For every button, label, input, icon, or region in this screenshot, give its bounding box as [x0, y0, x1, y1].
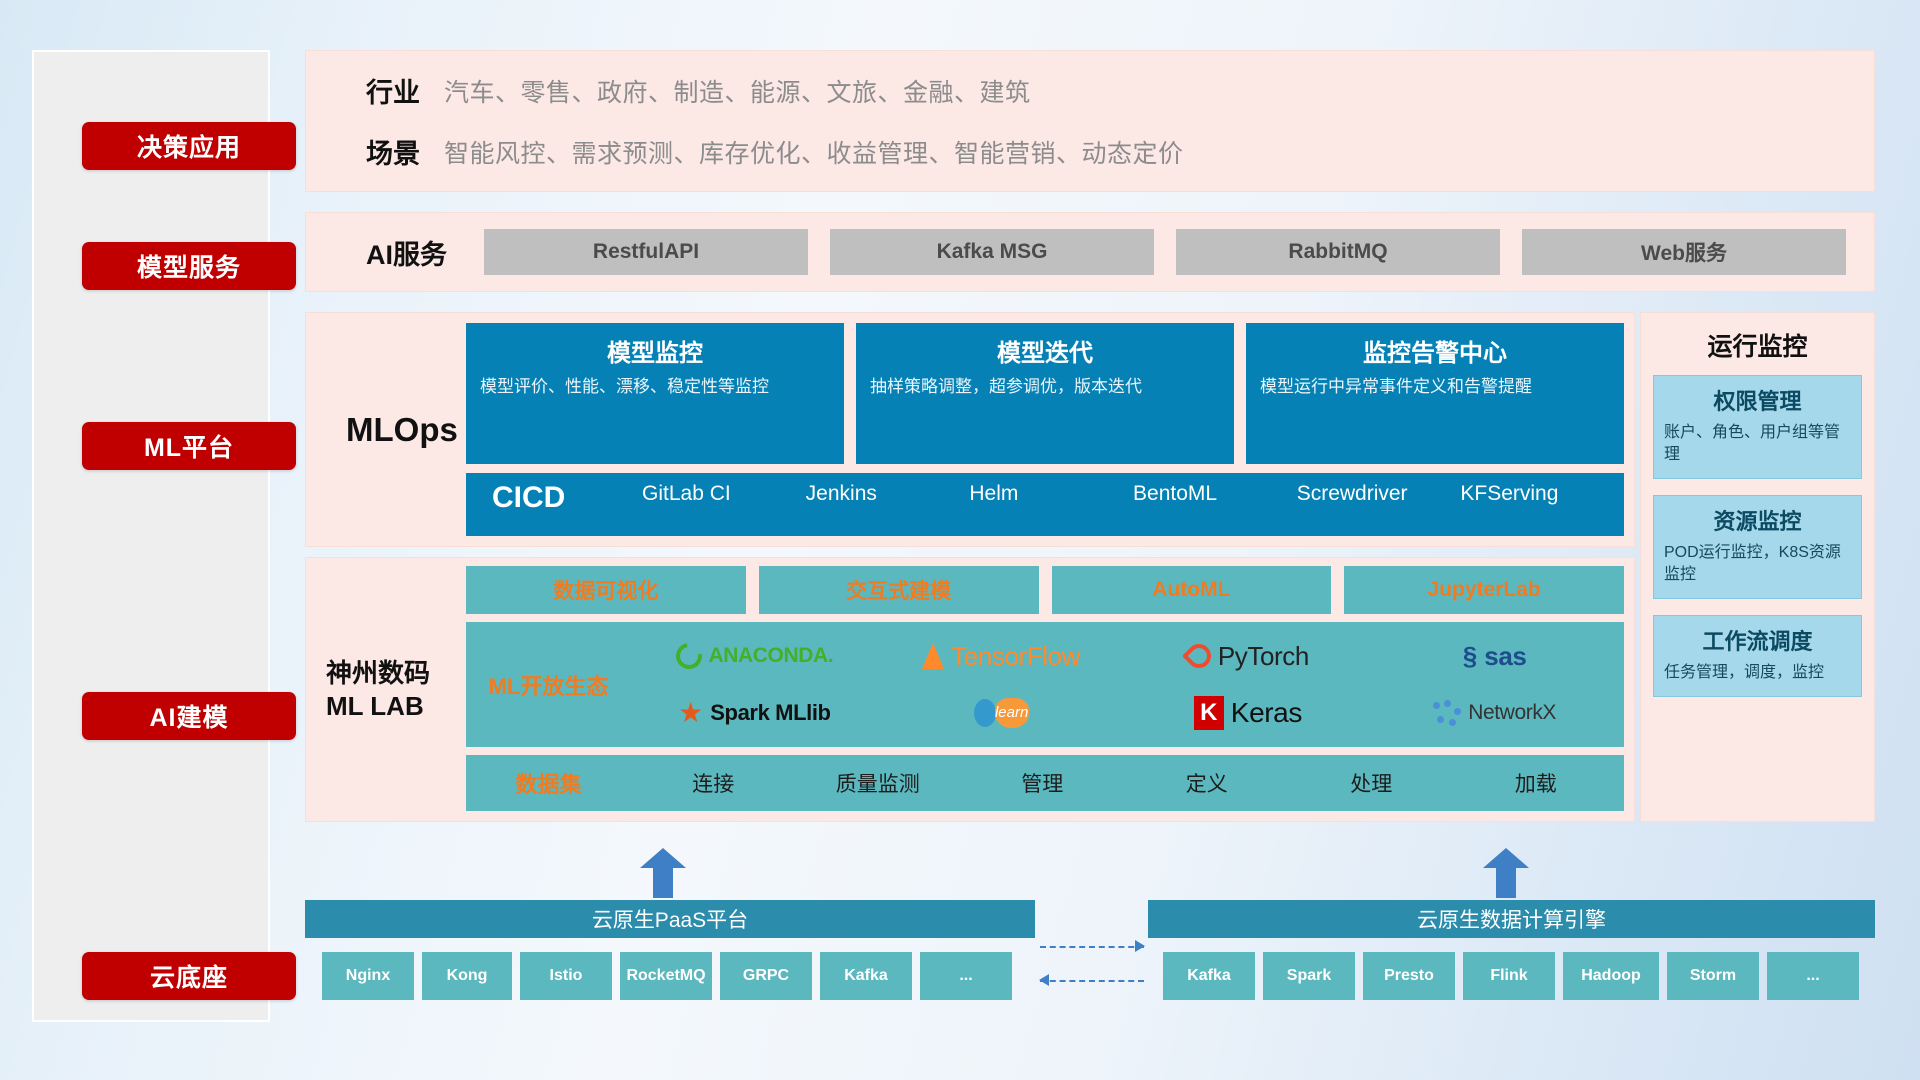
networkx-icon [1433, 700, 1461, 726]
scikit-learn-logo: learn [974, 698, 1029, 728]
monitor-card-title: 资源监控 [1664, 504, 1851, 536]
spark-mllib-logo: ★ Spark MLlib [678, 696, 830, 729]
ai-service-label: AI服务 [324, 233, 484, 272]
paas-chip[interactable]: RocketMQ [620, 952, 712, 1000]
mlops-card-desc: 模型运行中异常事件定义和告警提醒 [1260, 376, 1610, 399]
mllab-band: 神州数码 ML LAB 数据可视化交互式建模AutoMLJupyterLab M… [305, 557, 1635, 822]
monitor-card-desc: POD运行监控，K8S资源监控 [1664, 542, 1851, 586]
cicd-item[interactable]: Jenkins [806, 481, 970, 507]
paas-chip-list: NginxKongIstioRocketMQGRPCKafka... [322, 952, 1012, 1000]
pytorch-icon [1182, 639, 1216, 673]
engine-up-arrow-icon [1483, 848, 1529, 898]
mllab-tab-list: 数据可视化交互式建模AutoMLJupyterLab [466, 566, 1624, 614]
mlops-label: MLOps [306, 313, 466, 546]
monitor-card[interactable]: 权限管理账户、角色、用户组等管理 [1653, 375, 1862, 479]
mllab-tab[interactable]: 数据可视化 [466, 566, 746, 614]
industry-label: 行业 [324, 71, 444, 110]
ai-service-band: AI服务 RestfulAPIKafka MSGRabbitMQWeb服务 [305, 212, 1875, 292]
engine-chip[interactable]: Hadoop [1563, 952, 1659, 1000]
ai-service-chip[interactable]: Kafka MSG [830, 229, 1154, 275]
scenario-value: 智能风控、需求预测、库存优化、收益管理、智能营销、动态定价 [444, 134, 1184, 170]
monitor-card[interactable]: 资源监控POD运行监控，K8S资源监控 [1653, 495, 1862, 599]
paas-chip[interactable]: ... [920, 952, 1012, 1000]
dataset-item[interactable]: 连接 [631, 768, 796, 798]
keras-icon: K [1194, 696, 1224, 730]
ai-service-chip[interactable]: RestfulAPI [484, 229, 808, 275]
dataset-item[interactable]: 处理 [1289, 768, 1454, 798]
cicd-item[interactable]: KFServing [1460, 481, 1624, 507]
cicd-item[interactable]: Helm [969, 481, 1133, 507]
scenario-row: 场景 智能风控、需求预测、库存优化、收益管理、智能营销、动态定价 [324, 132, 1856, 171]
anaconda-logo: ANACONDA. [676, 643, 834, 669]
ai-service-chip[interactable]: RabbitMQ [1176, 229, 1500, 275]
dataset-item-list: 连接质量监测管理定义处理加载 [631, 768, 1618, 798]
ai-service-chip-list: RestfulAPIKafka MSGRabbitMQWeb服务 [484, 229, 1856, 275]
engine-chip[interactable]: Storm [1667, 952, 1759, 1000]
paas-up-arrow-icon [640, 848, 686, 898]
data-engine-bar: 云原生数据计算引擎 [1148, 900, 1875, 938]
mllab-label-line1: 神州数码 [326, 657, 466, 690]
engine-chip[interactable]: Kafka [1163, 952, 1255, 1000]
mlops-card: 模型迭代抽样策略调整，超参调优，版本迭代 [856, 323, 1234, 464]
cloud-link-arrows [1040, 940, 1144, 986]
applications-band: 行业 汽车、零售、政府、制造、能源、文旅、金融、建筑 场景 智能风控、需求预测、… [305, 50, 1875, 192]
paas-chip[interactable]: Istio [520, 952, 612, 1000]
dataset-item[interactable]: 质量监测 [796, 768, 961, 798]
engine-chip-list: KafkaSparkPrestoFlinkHadoopStorm... [1163, 952, 1859, 1000]
tensorflow-logo: TensorFlow [922, 641, 1080, 672]
cicd-item[interactable]: Screwdriver [1297, 481, 1461, 507]
monitor-card-desc: 账户、角色、用户组等管理 [1664, 422, 1851, 466]
dataset-item[interactable]: 定义 [1125, 768, 1290, 798]
ml-ecosystem-label: ML开放生态 [466, 628, 631, 741]
ml-ecosystem-row: ML开放生态 ANACONDA. TensorFlow PyTorch [466, 622, 1624, 747]
dataset-item[interactable]: 加载 [1454, 768, 1619, 798]
sas-icon: § [1463, 641, 1477, 672]
stage-rail: 决策应用 模型服务 ML平台 AI建模 云底座 [32, 50, 270, 1022]
networkx-logo: NetworkX [1433, 700, 1556, 726]
paas-chip[interactable]: GRPC [720, 952, 812, 1000]
mlops-card-title: 模型监控 [480, 333, 830, 368]
scikit-orange-icon: learn [995, 698, 1029, 728]
monitor-card-desc: 任务管理，调度，监控 [1664, 662, 1851, 684]
paas-chip[interactable]: Kafka [820, 952, 912, 1000]
monitor-card-title: 工作流调度 [1664, 624, 1851, 656]
pytorch-logo: PyTorch [1187, 641, 1309, 672]
mllab-label-line2: ML LAB [326, 690, 466, 723]
monitor-card-title: 权限管理 [1664, 384, 1851, 416]
runtime-monitor-panel: 运行监控 权限管理账户、角色、用户组等管理资源监控POD运行监控，K8S资源监控… [1640, 312, 1875, 822]
dataset-item[interactable]: 管理 [960, 768, 1125, 798]
engine-chip[interactable]: Spark [1263, 952, 1355, 1000]
cicd-item[interactable]: GitLab CI [642, 481, 806, 507]
mllab-tab[interactable]: 交互式建模 [759, 566, 1039, 614]
mlops-card-list: 模型监控模型评价、性能、漂移、稳定性等监控模型迭代抽样策略调整，超参调优，版本迭… [466, 323, 1624, 464]
cicd-label: CICD [492, 481, 642, 515]
engine-chip[interactable]: Presto [1363, 952, 1455, 1000]
mlops-card-desc: 模型评价、性能、漂移、稳定性等监控 [480, 376, 830, 399]
cicd-row: CICD GitLab CIJenkinsHelmBentoMLScrewdri… [466, 473, 1624, 536]
runtime-monitor-title: 运行监控 [1641, 313, 1874, 375]
mlops-band: MLOps 模型监控模型评价、性能、漂移、稳定性等监控模型迭代抽样策略调整，超参… [305, 312, 1635, 547]
cicd-item-list: GitLab CIJenkinsHelmBentoMLScrewdriverKF… [642, 481, 1624, 507]
engine-chip[interactable]: Flink [1463, 952, 1555, 1000]
mllab-label: 神州数码 ML LAB [306, 558, 466, 821]
stage-cloud-base[interactable]: 云底座 [82, 952, 296, 1000]
industry-value: 汽车、零售、政府、制造、能源、文旅、金融、建筑 [444, 73, 1031, 109]
mlops-card-title: 模型迭代 [870, 333, 1220, 368]
mllab-tab[interactable]: JupyterLab [1344, 566, 1624, 614]
stage-ml-platform[interactable]: ML平台 [82, 422, 296, 470]
paas-chip[interactable]: Kong [422, 952, 512, 1000]
ml-ecosystem-logos: ANACONDA. TensorFlow PyTorch § sas [631, 628, 1618, 741]
mlops-card: 监控告警中心模型运行中异常事件定义和告警提醒 [1246, 323, 1624, 464]
ai-service-chip[interactable]: Web服务 [1522, 229, 1846, 275]
monitor-card[interactable]: 工作流调度任务管理，调度，监控 [1653, 615, 1862, 697]
engine-chip[interactable]: ... [1767, 952, 1859, 1000]
scikit-blue-icon [974, 699, 996, 727]
tensorflow-icon [922, 643, 944, 669]
anaconda-icon [670, 638, 706, 674]
stage-decision-apps[interactable]: 决策应用 [82, 122, 296, 170]
dataset-label: 数据集 [466, 767, 631, 799]
stage-model-service[interactable]: 模型服务 [82, 242, 296, 290]
diagram-canvas: 决策应用 模型服务 ML平台 AI建模 云底座 行业 汽车、零售、政府、制造、能… [0, 0, 1920, 1080]
spark-icon: ★ [678, 696, 703, 729]
paas-chip[interactable]: Nginx [322, 952, 414, 1000]
mlops-card-desc: 抽样策略调整，超参调优，版本迭代 [870, 376, 1220, 399]
mlops-card: 模型监控模型评价、性能、漂移、稳定性等监控 [466, 323, 844, 464]
sas-logo: § sas [1463, 641, 1527, 672]
stage-ai-modeling[interactable]: AI建模 [82, 692, 296, 740]
keras-logo: K Keras [1194, 696, 1302, 730]
dataset-row: 数据集 连接质量监测管理定义处理加载 [466, 755, 1624, 811]
monitor-card-list: 权限管理账户、角色、用户组等管理资源监控POD运行监控，K8S资源监控工作流调度… [1641, 375, 1874, 697]
scenario-label: 场景 [324, 132, 444, 171]
mllab-tab[interactable]: AutoML [1052, 566, 1332, 614]
cicd-item[interactable]: BentoML [1133, 481, 1297, 507]
paas-platform-bar: 云原生PaaS平台 [305, 900, 1035, 938]
industry-row: 行业 汽车、零售、政府、制造、能源、文旅、金融、建筑 [324, 71, 1856, 110]
mlops-card-title: 监控告警中心 [1260, 333, 1610, 368]
